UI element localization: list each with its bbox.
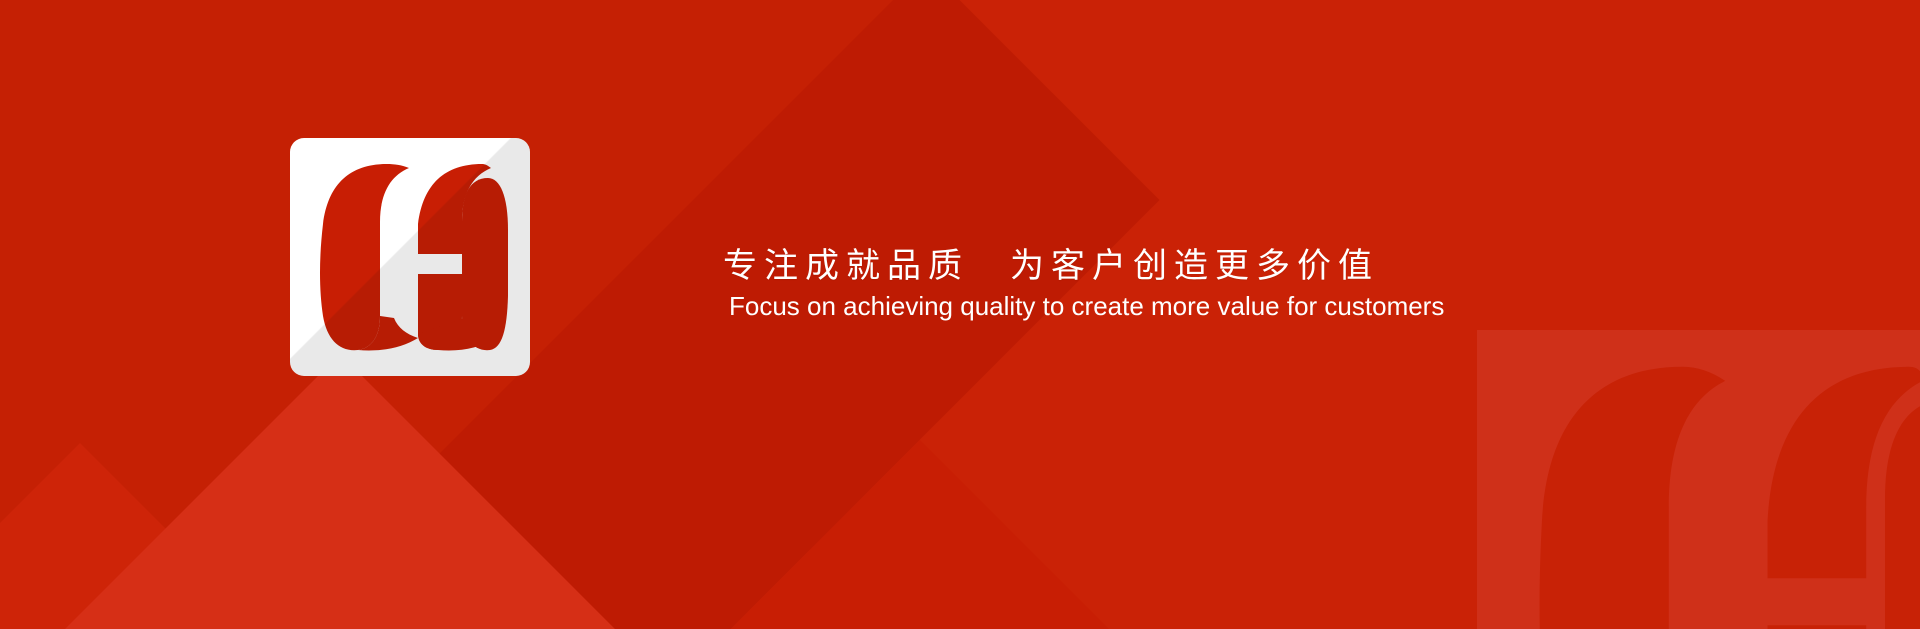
h-monogram-icon xyxy=(310,160,510,356)
background-diamond-light xyxy=(0,354,736,629)
slogan-block: 专注成就品质 为客户创造更多价值 Focus on achieving qual… xyxy=(723,246,1663,323)
slogan-subline-en: Focus on achieving quality to create mor… xyxy=(723,290,1493,323)
watermark-panel xyxy=(1477,330,1920,629)
hero-banner: 专注成就品质 为客户创造更多价值 Focus on achieving qual… xyxy=(0,0,1920,629)
h-monogram-watermark-icon xyxy=(1509,348,1920,629)
company-logo xyxy=(290,138,530,376)
background-diamond-dark xyxy=(0,443,377,629)
slogan-headline-cn: 专注成就品质 为客户创造更多价值 xyxy=(723,246,1663,286)
